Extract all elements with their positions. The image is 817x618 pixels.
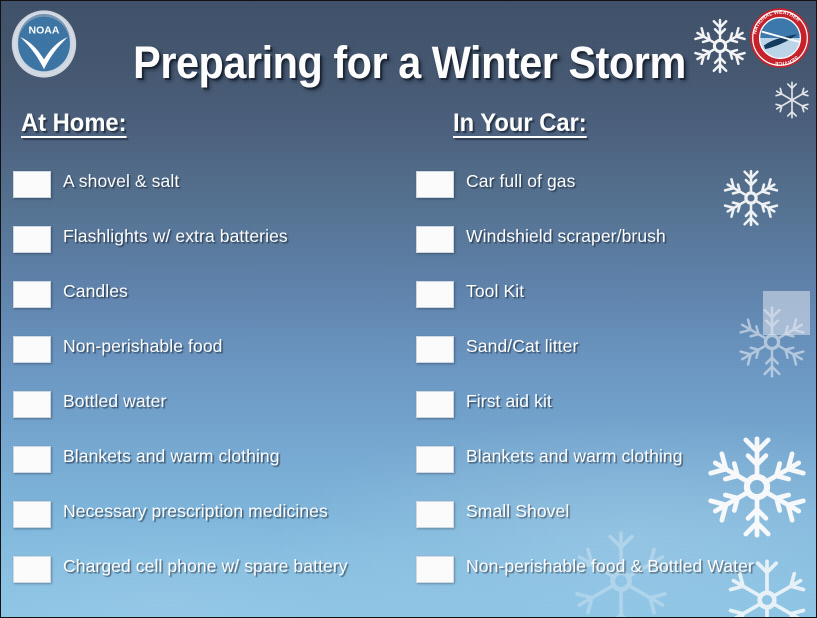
list-item-label: Non-perishable food [63, 336, 223, 357]
checkbox[interactable] [13, 226, 51, 253]
list-item[interactable]: Non-perishable food [13, 331, 413, 386]
list-item[interactable]: Non-perishable food & Bottled Water [416, 551, 816, 606]
list-item[interactable]: Small Shovel [416, 496, 816, 551]
checkbox[interactable] [416, 501, 454, 528]
winter-storm-poster: NOAA Preparing for a Winter Storm NATION… [0, 0, 817, 618]
list-item[interactable]: Tool Kit [416, 276, 816, 331]
checkbox[interactable] [13, 336, 51, 363]
list-item-label: A shovel & salt [63, 171, 179, 192]
checkbox[interactable] [13, 391, 51, 418]
checkbox[interactable] [13, 446, 51, 473]
checkbox[interactable] [416, 226, 454, 253]
checkbox[interactable] [416, 281, 454, 308]
list-item-label: Bottled water [63, 391, 166, 412]
list-item[interactable]: Windshield scraper/brush [416, 221, 816, 276]
list-item[interactable]: Sand/Cat litter [416, 331, 816, 386]
national-weather-service-logo: NATIONAL WEATHER SERVICE [749, 7, 811, 69]
checklist-at-home: A shovel & salt Flashlights w/ extra bat… [13, 166, 413, 606]
list-item-label: Flashlights w/ extra batteries [63, 226, 288, 247]
checklist-in-your-car: Car full of gas Windshield scraper/brush… [416, 166, 816, 606]
poster-header: NOAA Preparing for a Winter Storm NATION… [1, 1, 817, 87]
checkbox[interactable] [13, 501, 51, 528]
list-item-label: Tool Kit [466, 281, 524, 302]
list-item-label: First aid kit [466, 391, 552, 412]
list-item-label: Sand/Cat litter [466, 336, 578, 357]
checkbox[interactable] [13, 281, 51, 308]
list-item-label: Windshield scraper/brush [466, 226, 666, 247]
list-item-label: Blankets and warm clothing [466, 446, 683, 467]
checkbox[interactable] [416, 556, 454, 583]
checkbox[interactable] [416, 391, 454, 418]
checkbox[interactable] [416, 446, 454, 473]
list-item-label: Small Shovel [466, 501, 569, 522]
list-item[interactable]: Charged cell phone w/ spare battery [13, 551, 413, 606]
list-item[interactable]: First aid kit [416, 386, 816, 441]
checkbox[interactable] [13, 556, 51, 583]
list-item[interactable]: Bottled water [13, 386, 413, 441]
list-item-label: Blankets and warm clothing [63, 446, 280, 467]
list-item[interactable]: Blankets and warm clothing [416, 441, 816, 496]
list-item[interactable]: Blankets and warm clothing [13, 441, 413, 496]
list-item[interactable]: Candles [13, 276, 413, 331]
list-item-label: Car full of gas [466, 171, 575, 192]
checkbox[interactable] [13, 171, 51, 198]
checkbox[interactable] [416, 336, 454, 363]
section-heading-at-home: At Home: [21, 109, 127, 138]
list-item-label: Non-perishable food & Bottled Water [466, 556, 754, 577]
section-heading-in-your-car: In Your Car: [453, 109, 587, 138]
list-item-label: Necessary prescription medicines [63, 501, 328, 522]
noaa-logo-text: NOAA [29, 25, 60, 37]
page-title: Preparing for a Winter Storm [34, 37, 786, 89]
list-item[interactable]: Necessary prescription medicines [13, 496, 413, 551]
list-item-label: Charged cell phone w/ spare battery [63, 556, 348, 577]
list-item[interactable]: Flashlights w/ extra batteries [13, 221, 413, 276]
list-item-label: Candles [63, 281, 128, 302]
checkbox[interactable] [416, 171, 454, 198]
list-item[interactable]: Car full of gas [416, 166, 816, 221]
list-item[interactable]: A shovel & salt [13, 166, 413, 221]
